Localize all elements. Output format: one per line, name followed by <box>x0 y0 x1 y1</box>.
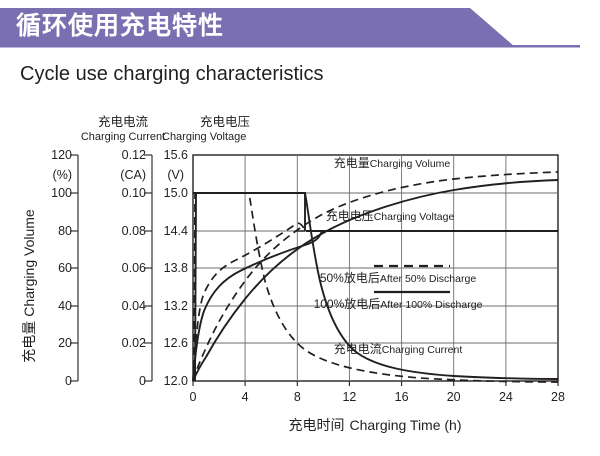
axis-time-tick-7: 28 <box>551 390 565 404</box>
subtitle: Cycle use charging characteristics <box>20 63 323 86</box>
axis-time-tick-2: 8 <box>294 390 301 404</box>
annotation-charging-voltage: 充电电压Charging Voltage <box>326 208 455 223</box>
axis-voltage-unit: (V) <box>167 168 184 182</box>
axis-title-volume-text: 充电量Charging Volume <box>21 209 37 363</box>
axis-header-voltage-en: Charging Voltage <box>162 131 246 143</box>
axis-header-charging-current: 充电电流 Charging Current <box>81 114 165 143</box>
axis-time-tick-0: 0 <box>190 390 197 404</box>
axis-volume-unit: (%) <box>53 168 72 182</box>
axis-scale-charging-volume: 120 (%) 100 80 60 40 20 0 <box>51 148 78 388</box>
axis-time-tick-1: 4 <box>242 390 249 404</box>
axis-scale-charging-current: 0.12 (CA) 0.10 0.08 0.06 0.04 0.02 0 <box>120 148 152 388</box>
plot-annotations: 充电量Charging Volume 充电电压Charging Voltage … <box>326 155 463 356</box>
axis-title-charging-volume: 充电量Charging Volume <box>21 209 37 363</box>
axis-time-tick-3: 12 <box>342 390 356 404</box>
legend-label-50-discharge: 50%放电后After 50% Discharge <box>320 270 476 285</box>
axis-header-charging-voltage: 充电电压 Charging Voltage <box>162 114 250 143</box>
axis-volume-tick-2: 80 <box>58 224 72 238</box>
axis-header-current-cn: 充电电流 <box>98 114 149 129</box>
annotation-charging-current: 充电电流Charging Current <box>334 341 463 356</box>
axis-voltage-tick-5: 12.6 <box>164 336 188 350</box>
page-title: 循环使用充电特性 <box>16 6 224 46</box>
axis-voltage-tick-1: 15.0 <box>164 186 188 200</box>
axis-time-tick-6: 24 <box>499 390 513 404</box>
axis-current-tick-0: 0.12 <box>122 148 146 162</box>
axis-volume-tick-4: 40 <box>58 299 72 313</box>
axis-voltage-tick-4: 13.2 <box>164 299 188 313</box>
axis-volume-tick-1: 100 <box>51 186 72 200</box>
axis-current-tick-5: 0.02 <box>122 336 146 350</box>
axis-voltage-tick-6: 12.0 <box>164 374 188 388</box>
chart-legend: 50%放电后After 50% Discharge 100%放电后After 1… <box>314 266 483 311</box>
axis-time-tick-5: 20 <box>447 390 461 404</box>
axis-header-voltage-cn: 充电电压 <box>200 114 250 129</box>
axis-voltage-tick-0: 15.6 <box>164 148 188 162</box>
axis-current-tick-3: 0.06 <box>122 261 146 275</box>
axis-title-charging-time: 充电时间Charging Time (h) <box>288 417 461 433</box>
axis-volume-tick-5: 20 <box>58 336 72 350</box>
axis-voltage-tick-2: 14.4 <box>164 224 188 238</box>
axis-header-current-en: Charging Current <box>81 131 165 143</box>
chart-container: 充电电流 Charging Current 充电电压 Charging Volt… <box>0 96 600 451</box>
axis-scale-charging-time: 0 4 8 12 16 20 24 28 <box>190 381 565 404</box>
series-voltage-50-discharge <box>193 223 306 381</box>
axis-volume-tick-0: 120 <box>51 148 72 162</box>
annotation-charging-volume: 充电量Charging Volume <box>334 155 451 170</box>
legend-label-100-discharge: 100%放电后After 100% Discharge <box>314 296 483 311</box>
axis-current-unit: (CA) <box>120 168 146 182</box>
chart-svg: 充电电流 Charging Current 充电电压 Charging Volt… <box>0 96 600 451</box>
axis-current-tick-1: 0.10 <box>122 186 146 200</box>
header-banner: 循环使用充电特性 <box>0 0 600 56</box>
axis-voltage-tick-3: 13.8 <box>164 261 188 275</box>
axis-volume-tick-3: 60 <box>58 261 72 275</box>
series-voltage-constant-15v <box>193 193 305 231</box>
axis-time-tick-4: 16 <box>395 390 409 404</box>
axis-current-tick-2: 0.08 <box>122 224 146 238</box>
axis-scale-charging-voltage: 15.6 (V) 15.0 14.4 13.8 13.2 12.6 12.0 <box>164 148 188 388</box>
axis-current-tick-4: 0.04 <box>122 299 146 313</box>
